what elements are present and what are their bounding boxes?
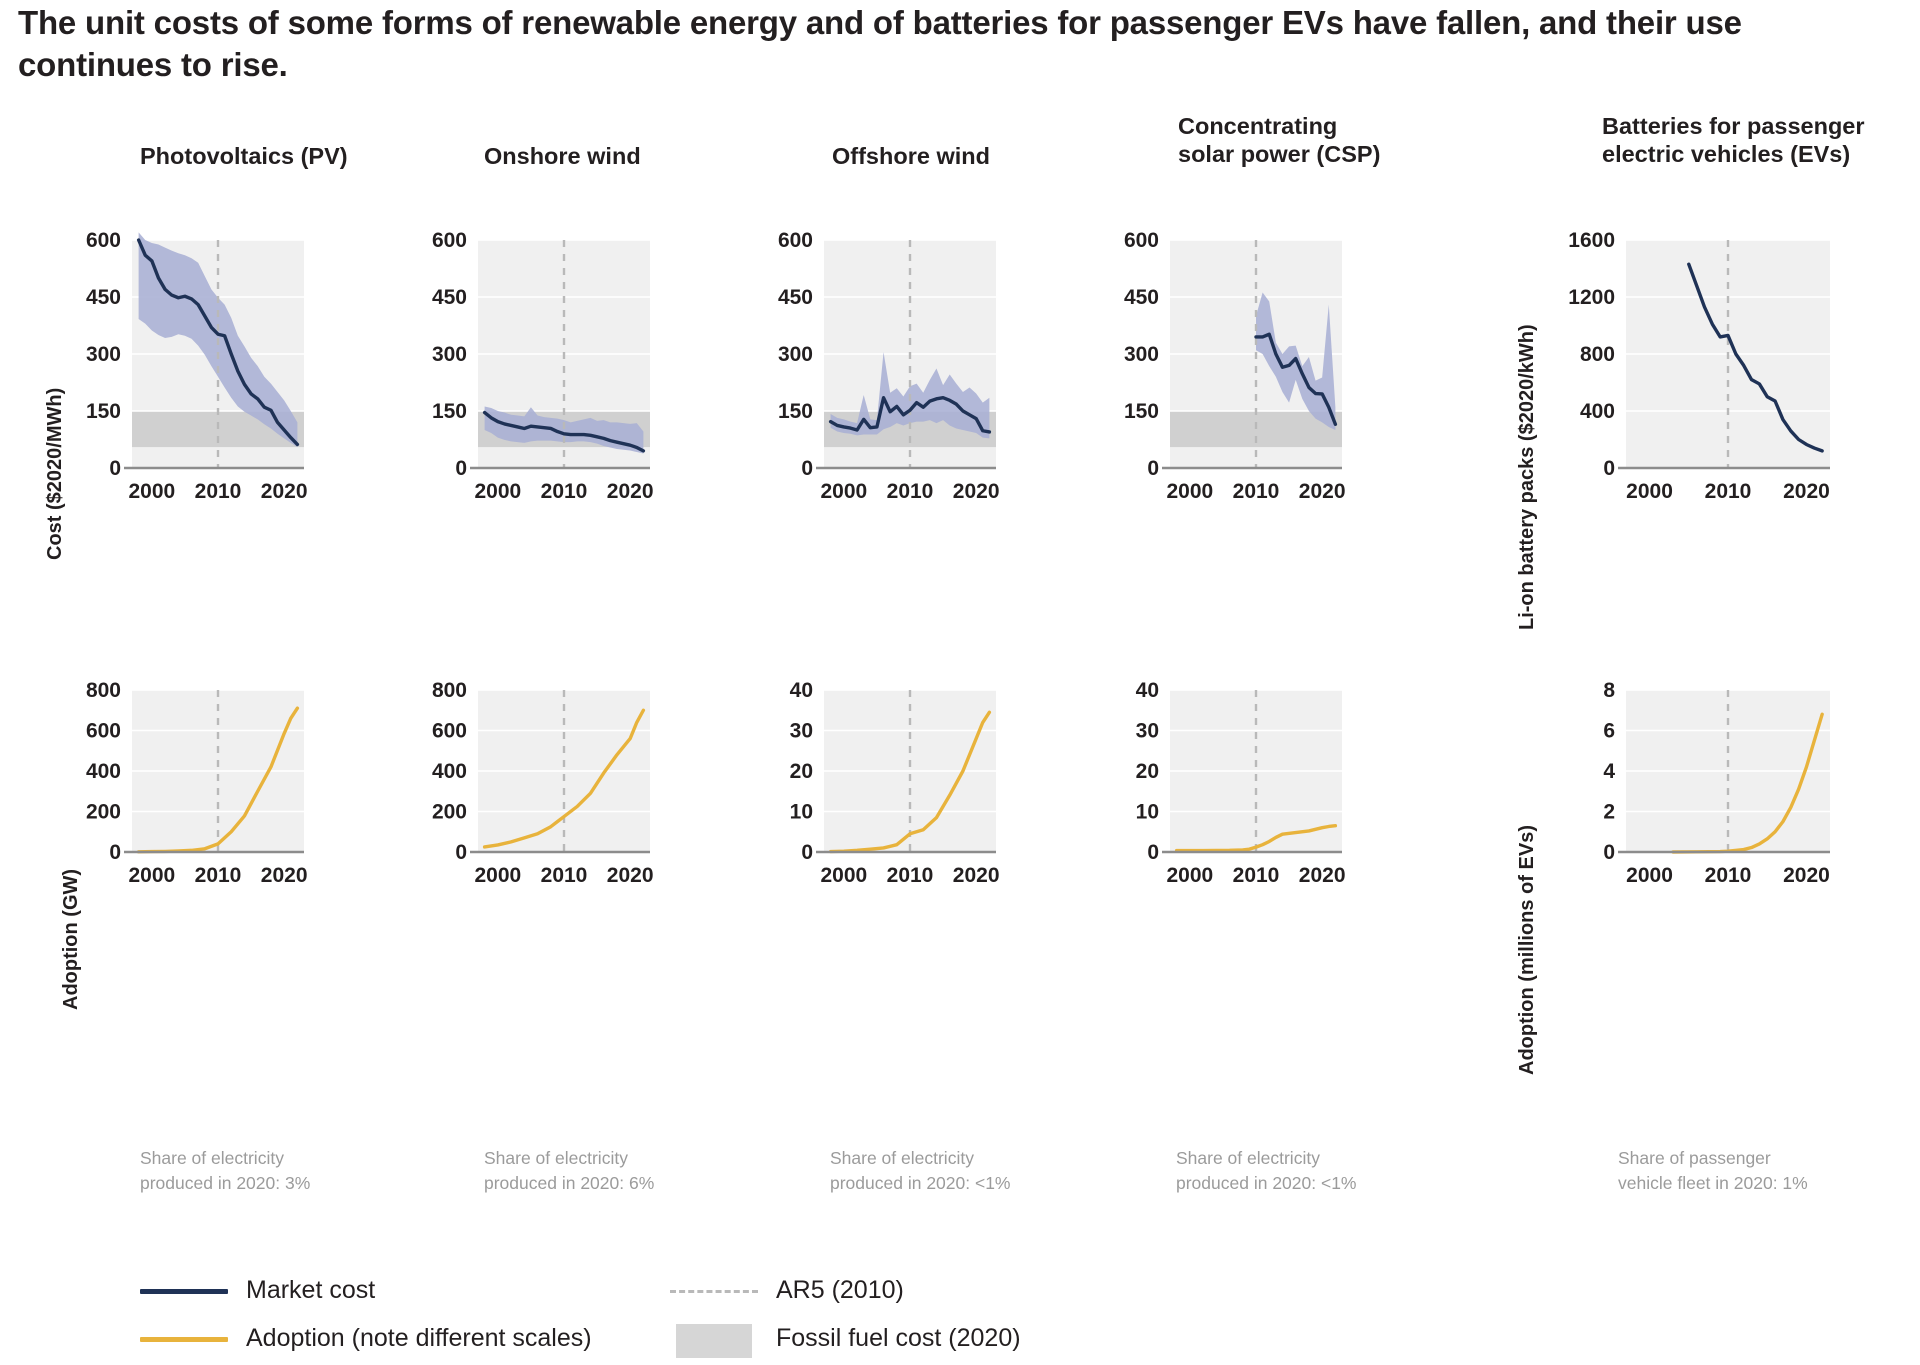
plot-csp-cost: 0150300450600200020102020 <box>1098 228 1348 526</box>
y-tick-label: 30 <box>1136 720 1159 743</box>
legend-swatch-adoption <box>140 1328 228 1350</box>
y-tick-label: 200 <box>432 801 467 824</box>
y-tick-label: 400 <box>1580 400 1615 423</box>
x-tick-label: 2020 <box>261 864 308 887</box>
y-tick-label: 450 <box>432 286 467 309</box>
panel-title-onshore: Onshore wind <box>484 143 744 171</box>
x-tick-label: 2010 <box>887 480 934 503</box>
x-tick-label: 2020 <box>261 480 308 503</box>
chart-pv-adoption: 0200400600800200020102020 <box>60 680 310 900</box>
x-tick-label: 2010 <box>541 864 588 887</box>
y-tick-label: 20 <box>790 760 813 783</box>
figure-root: The unit costs of some forms of renewabl… <box>0 0 1920 1365</box>
legend-swatch-market-cost <box>140 1280 228 1302</box>
y-tick-label: 150 <box>778 400 813 423</box>
y-tick-label: 0 <box>455 841 467 864</box>
y-tick-label: 40 <box>1136 680 1159 702</box>
y-tick-label: 2 <box>1603 801 1615 824</box>
chart-csp-cost: 0150300450600200020102020 <box>1098 228 1348 526</box>
x-tick-label: 2000 <box>820 864 867 887</box>
y-tick-label: 0 <box>1603 841 1615 864</box>
panel-title-pv: Photovoltaics (PV) <box>140 143 400 171</box>
x-tick-label: 2000 <box>820 480 867 503</box>
y-tick-label: 400 <box>432 760 467 783</box>
y-tick-label: 1600 <box>1568 229 1615 252</box>
y-tick-label: 1200 <box>1568 286 1615 309</box>
y-tick-label: 30 <box>790 720 813 743</box>
y-tick-label: 0 <box>1147 457 1159 480</box>
y-tick-label: 450 <box>778 286 813 309</box>
x-tick-label: 2000 <box>1626 480 1673 503</box>
y-tick-label: 450 <box>86 286 121 309</box>
x-tick-label: 2010 <box>541 480 588 503</box>
x-tick-label: 2000 <box>474 480 521 503</box>
x-tick-label: 2020 <box>953 864 1000 887</box>
y-tick-label: 8 <box>1603 680 1615 702</box>
y-tick-label: 0 <box>1603 457 1615 480</box>
ylabel-ev-adoption: Adoption (millions of EVs) <box>1516 825 1539 1075</box>
y-tick-label: 450 <box>1124 286 1159 309</box>
y-tick-label: 40 <box>790 680 813 702</box>
y-tick-label: 200 <box>86 801 121 824</box>
caption-onshore: Share of electricityproduced in 2020: 6% <box>484 1146 784 1196</box>
legend-label-fossil-fuel: Fossil fuel cost (2020) <box>776 1324 1021 1353</box>
x-tick-label: 2020 <box>607 480 654 503</box>
y-tick-label: 4 <box>1603 760 1615 783</box>
x-tick-label: 2020 <box>1783 864 1830 887</box>
chart-pv-cost: 0150300450600200020102020 <box>60 228 310 526</box>
y-tick-label: 0 <box>109 841 121 864</box>
x-tick-label: 2000 <box>1626 864 1673 887</box>
y-tick-label: 0 <box>455 457 467 480</box>
x-tick-label: 2000 <box>1166 864 1213 887</box>
chart-offshore-adoption: 010203040200020102020 <box>752 680 1002 900</box>
figure-title: The unit costs of some forms of renewabl… <box>18 2 1898 86</box>
x-tick-label: 2010 <box>1705 480 1752 503</box>
plot-offshore-adoption: 010203040200020102020 <box>752 680 1002 900</box>
plot-pv-adoption: 0200400600800200020102020 <box>60 680 310 900</box>
legend-item-ar5: AR5 (2010) <box>670 1276 904 1305</box>
y-tick-label: 150 <box>1124 400 1159 423</box>
x-tick-label: 2000 <box>128 480 175 503</box>
y-tick-label: 300 <box>1124 343 1159 366</box>
x-tick-label: 2010 <box>1705 864 1752 887</box>
plot-onshore-cost: 0150300450600200020102020 <box>406 228 656 526</box>
y-tick-label: 0 <box>801 841 813 864</box>
y-tick-label: 150 <box>86 400 121 423</box>
y-tick-label: 400 <box>86 760 121 783</box>
chart-offshore-cost: 0150300450600200020102020 <box>752 228 1002 526</box>
y-tick-label: 20 <box>1136 760 1159 783</box>
ylabel-ev-cost: Li-on battery packs ($2020/kWh) <box>1516 324 1539 630</box>
x-tick-label: 2010 <box>1233 864 1280 887</box>
x-tick-label: 2000 <box>474 864 521 887</box>
y-tick-label: 600 <box>432 720 467 743</box>
x-tick-label: 2010 <box>195 480 242 503</box>
legend-item-market-cost: Market cost <box>140 1276 375 1305</box>
y-tick-label: 600 <box>778 229 813 252</box>
legend-label-ar5: AR5 (2010) <box>776 1276 904 1305</box>
x-tick-label: 2010 <box>887 864 934 887</box>
plot-csp-adoption: 010203040200020102020 <box>1098 680 1348 900</box>
x-tick-label: 2020 <box>1299 480 1346 503</box>
y-tick-label: 600 <box>1124 229 1159 252</box>
x-tick-label: 2020 <box>1783 480 1830 503</box>
caption-csp: Share of electricityproduced in 2020: <1… <box>1176 1146 1476 1196</box>
y-tick-label: 600 <box>86 720 121 743</box>
legend-swatch-fossil-fuel <box>670 1328 758 1350</box>
y-tick-label: 150 <box>432 400 467 423</box>
panel-title-csp: Concentratingsolar power (CSP) <box>1178 113 1458 168</box>
chart-csp-adoption: 010203040200020102020 <box>1098 680 1348 900</box>
y-tick-label: 600 <box>86 229 121 252</box>
y-tick-label: 0 <box>801 457 813 480</box>
y-tick-label: 10 <box>790 801 813 824</box>
legend-item-fossil-fuel: Fossil fuel cost (2020) <box>670 1324 1021 1353</box>
legend-item-adoption: Adoption (note different scales) <box>140 1324 592 1353</box>
caption-ev: Share of passengervehicle fleet in 2020:… <box>1618 1146 1920 1196</box>
x-tick-label: 2020 <box>607 864 654 887</box>
chart-onshore-adoption: 0200400600800200020102020 <box>406 680 656 900</box>
plot-ev-adoption: 02468200020102020 <box>1540 680 1840 900</box>
x-tick-label: 2010 <box>195 864 242 887</box>
y-tick-label: 10 <box>1136 801 1159 824</box>
y-tick-label: 300 <box>86 343 121 366</box>
x-tick-label: 2010 <box>1233 480 1280 503</box>
y-tick-label: 6 <box>1603 720 1615 743</box>
plot-onshore-adoption: 0200400600800200020102020 <box>406 680 656 900</box>
plot-pv-cost: 0150300450600200020102020 <box>60 228 310 526</box>
plot-offshore-cost: 0150300450600200020102020 <box>752 228 1002 526</box>
y-tick-label: 0 <box>109 457 121 480</box>
x-tick-label: 2000 <box>1166 480 1213 503</box>
y-tick-label: 600 <box>432 229 467 252</box>
chart-ev-adoption: 02468200020102020 <box>1540 680 1840 900</box>
legend-label-market-cost: Market cost <box>246 1276 375 1305</box>
y-tick-label: 0 <box>1147 841 1159 864</box>
y-tick-label: 300 <box>432 343 467 366</box>
y-tick-label: 800 <box>432 680 467 702</box>
plot-ev-cost: 040080012001600200020102020 <box>1540 228 1840 526</box>
legend-swatch-ar5 <box>670 1280 758 1302</box>
chart-onshore-cost: 0150300450600200020102020 <box>406 228 656 526</box>
x-tick-label: 2000 <box>128 864 175 887</box>
y-tick-label: 800 <box>1580 343 1615 366</box>
y-tick-label: 300 <box>778 343 813 366</box>
panel-title-offshore: Offshore wind <box>832 143 1092 171</box>
chart-ev-cost: 040080012001600200020102020 <box>1540 228 1840 526</box>
legend-label-adoption: Adoption (note different scales) <box>246 1324 592 1353</box>
x-tick-label: 2020 <box>1299 864 1346 887</box>
y-tick-label: 800 <box>86 680 121 702</box>
x-tick-label: 2020 <box>953 480 1000 503</box>
caption-offshore: Share of electricityproduced in 2020: <1… <box>830 1146 1130 1196</box>
panel-title-ev: Batteries for passengerelectric vehicles… <box>1602 113 1920 168</box>
caption-pv: Share of electricityproduced in 2020: 3% <box>140 1146 440 1196</box>
